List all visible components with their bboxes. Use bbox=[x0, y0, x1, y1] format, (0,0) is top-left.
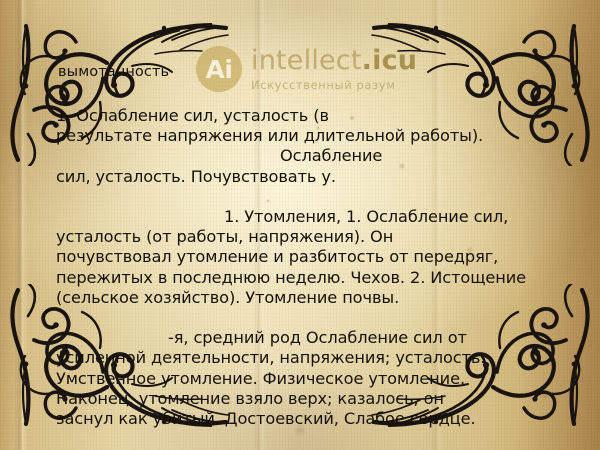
entry-line-text: Наконец, утомление взяло верх; казалось,… bbox=[56, 389, 444, 408]
entry-line-text: усталость (от работы, напряжения). Он bbox=[56, 227, 393, 246]
watermark-tagline: Искусственный разум bbox=[251, 78, 417, 92]
site-watermark: Ai intellect.icu Искусственный разум bbox=[196, 46, 417, 92]
entry-line: почувствовал утомление и разбитость от п… bbox=[56, 247, 556, 267]
entry-line-text: 1. Утомления, 1. Ослабление сил, bbox=[224, 207, 508, 226]
entry-line-text: Ослабление bbox=[280, 146, 382, 165]
entry-line: 1. Утомления, 1. Ослабление сил, bbox=[56, 207, 556, 227]
entry-line-text: усиленной деятельности, напряжения; уста… bbox=[56, 348, 485, 367]
entry-line: заснул как убитый. Достоевский, Слабое с… bbox=[56, 409, 556, 429]
dictionary-entry-text: 1. Ослабление сил, усталость (врезультат… bbox=[56, 106, 556, 429]
watermark-brand-name: intellect bbox=[251, 45, 362, 76]
entry-line-text: Умственное утомление. Физическое утомлен… bbox=[56, 369, 465, 388]
watermark-brand: intellect.icu bbox=[251, 47, 417, 74]
dictionary-entry-page: Ai intellect.icu Искусственный разум вым… bbox=[0, 0, 600, 450]
entry-line: Умственное утомление. Физическое утомлен… bbox=[56, 369, 556, 389]
ai-logo-text: Ai bbox=[206, 57, 233, 82]
entry-line: 1. Ослабление сил, усталость (в bbox=[56, 106, 556, 126]
entry-line: Ослабление bbox=[56, 146, 556, 166]
page-title: вымотанность bbox=[58, 64, 169, 80]
watermark-brand-tld: .icu bbox=[362, 45, 418, 76]
entry-line: сил, усталость. Почувствовать у. bbox=[56, 167, 556, 187]
entry-line-text: заснул как убитый. Достоевский, Слабое с… bbox=[56, 409, 476, 428]
entry-line-text: пережитых в последнюю неделю. Чехов. 2. … bbox=[56, 268, 526, 287]
paragraph-spacer bbox=[56, 187, 556, 207]
entry-line-text: -я, средний род Ослабление сил от bbox=[168, 328, 467, 347]
entry-line-text: результате напряжения или длительной раб… bbox=[56, 126, 483, 145]
entry-line: результате напряжения или длительной раб… bbox=[56, 126, 556, 146]
entry-line-text: (сельское хозяйство). Утомление почвы. bbox=[56, 288, 399, 307]
entry-line: усиленной деятельности, напряжения; уста… bbox=[56, 348, 556, 368]
entry-line-text: почувствовал утомление и разбитость от п… bbox=[56, 247, 498, 266]
paragraph-spacer bbox=[56, 308, 556, 328]
entry-line-text: 1. Ослабление сил, усталость (в bbox=[56, 106, 329, 125]
entry-line: -я, средний род Ослабление сил от bbox=[56, 328, 556, 348]
entry-line: (сельское хозяйство). Утомление почвы. bbox=[56, 288, 556, 308]
entry-line: усталость (от работы, напряжения). Он bbox=[56, 227, 556, 247]
watermark-text: intellect.icu Искусственный разум bbox=[251, 47, 417, 92]
entry-line: Наконец, утомление взяло верх; казалось,… bbox=[56, 389, 556, 409]
paper-fold-line bbox=[14, 0, 28, 450]
ai-logo-icon: Ai bbox=[196, 46, 242, 92]
entry-line-text: сил, усталость. Почувствовать у. bbox=[56, 167, 336, 186]
entry-line: пережитых в последнюю неделю. Чехов. 2. … bbox=[56, 268, 556, 288]
